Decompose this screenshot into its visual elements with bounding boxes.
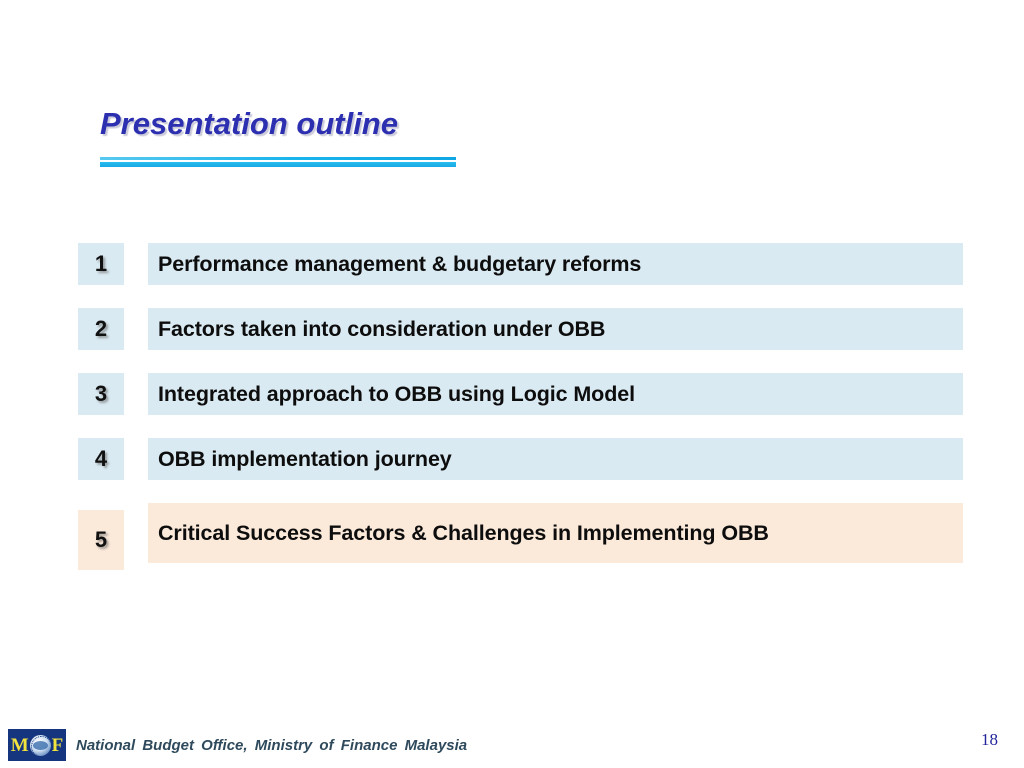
outline-row-number: 3 [78, 373, 124, 415]
outline-row-label: Factors taken into consideration under O… [148, 308, 963, 350]
outline-row-label: Critical Success Factors & Challenges in… [148, 503, 963, 563]
outline-row-3[interactable]: 3 Integrated approach to OBB using Logic… [78, 373, 963, 415]
logo-letter-f: F [52, 736, 64, 755]
outline-row-number: 5 [78, 510, 124, 570]
outline-list: 1 Performance management & budgetary ref… [78, 243, 963, 563]
outline-row-1[interactable]: 1 Performance management & budgetary ref… [78, 243, 963, 285]
outline-row-number: 4 [78, 438, 124, 480]
footer-organization-label: National Budget Office, Ministry of Fina… [76, 737, 467, 754]
outline-row-label: Performance management & budgetary refor… [148, 243, 963, 285]
page-title: Presentation outline [100, 106, 398, 142]
outline-row-number: 2 [78, 308, 124, 350]
outline-row-5[interactable]: 5 Critical Success Factors & Challenges … [78, 503, 963, 563]
logo-letter-m: M [11, 736, 29, 755]
outline-row-label: OBB implementation journey [148, 438, 963, 480]
outline-row-2[interactable]: 2 Factors taken into consideration under… [78, 308, 963, 350]
globe-icon [30, 735, 51, 756]
title-underline-rule [100, 157, 456, 167]
mof-logo: M F [8, 729, 66, 761]
page-number: 18 [981, 730, 998, 750]
title-underline-bottom [100, 162, 456, 167]
outline-row-4[interactable]: 4 OBB implementation journey [78, 438, 963, 480]
outline-row-number: 1 [78, 243, 124, 285]
outline-row-label: Integrated approach to OBB using Logic M… [148, 373, 963, 415]
footer: M F National Budget Office, Ministry of … [8, 729, 467, 761]
